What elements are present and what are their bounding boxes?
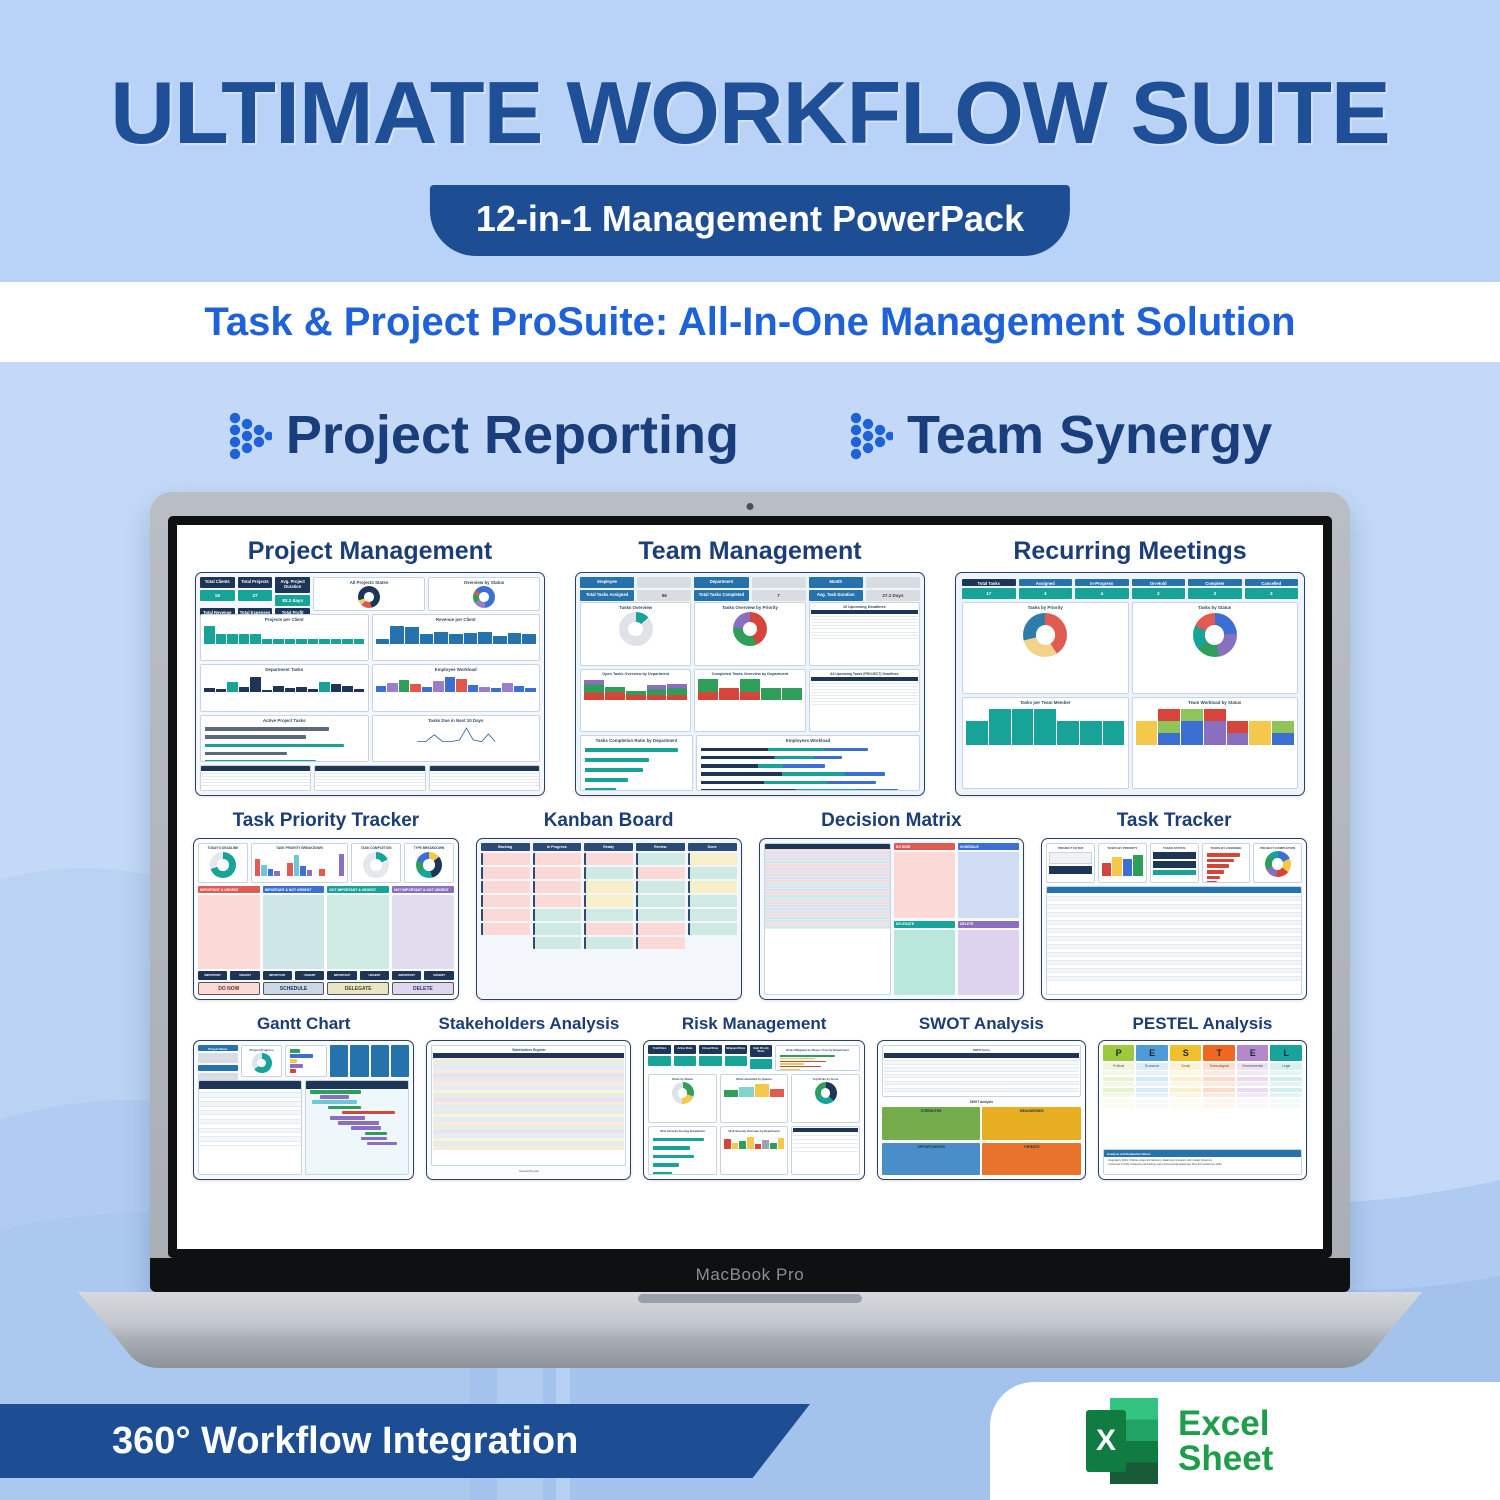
laptop-screen: Project Management Total Clients19 Total… <box>168 516 1332 1258</box>
analysis-notes-panel: Analysis and Evaluation Notes - Regulato… <box>1103 1149 1302 1175</box>
kanban-card[interactable] <box>636 937 685 949</box>
kpi-label: Mitigated Risks <box>725 1045 747 1054</box>
kanban-card[interactable] <box>584 853 633 865</box>
donut-chart <box>473 586 495 608</box>
dashboard-tile-swot-analysis[interactable]: SWOT Analysis SWOT Entry <box>877 1014 1086 1180</box>
panel-title: Overview by Status <box>429 578 539 585</box>
kanban-card[interactable] <box>533 909 582 921</box>
dashboard-gallery: Project Management Total Clients19 Total… <box>177 525 1323 1249</box>
kpi-label: Total Tasks Completed <box>694 590 748 601</box>
panel-title: PROJECT FILTER <box>1047 844 1094 850</box>
chart-panel: Tasks by Status <box>1132 602 1299 694</box>
kpi-value: 83.2 days <box>275 595 310 606</box>
excel-logo-letter: X <box>1096 1424 1116 1457</box>
toggle-label[interactable]: URGENT <box>295 971 324 980</box>
kpi-label: Total Tasks Assigned <box>580 590 634 601</box>
laptop-mockup: Project Management Total Clients19 Total… <box>150 492 1350 1292</box>
kpi-label: On-Hold <box>1132 579 1186 586</box>
chart-panel: Risks by Status <box>648 1074 716 1123</box>
donut-chart <box>1265 851 1291 877</box>
chart-panel: TASK PRIORITY BREAKDOWN <box>251 843 349 883</box>
notes-title: Analysis and Evaluation Notes <box>1104 1150 1301 1157</box>
dashboard-row-2: Task Priority Tracker TODAY'S DEADLINE <box>191 810 1309 1000</box>
kanban-card[interactable] <box>533 937 582 949</box>
dashboard-row-3: Gantt Chart Project Name <box>191 1014 1309 1180</box>
filter-value[interactable] <box>637 577 691 588</box>
dashboard-tile-task-tracker[interactable]: Task Tracker PROJECT FILTER <box>1041 810 1307 1000</box>
quadrant-delete: DELETE <box>958 921 1019 996</box>
kpi-value: 4 <box>1075 588 1129 599</box>
tile-title: Decision Matrix <box>759 810 1025 832</box>
pestel-column-economic: E Economic <box>1136 1045 1168 1146</box>
kanban-card[interactable] <box>636 923 685 935</box>
kanban-card[interactable] <box>584 881 633 893</box>
kanban-card[interactable] <box>584 937 633 949</box>
kanban-card[interactable] <box>688 909 737 921</box>
panel-title: Employees Workload <box>697 736 919 743</box>
kpi-label: Total Tasks <box>962 579 1016 586</box>
chart-panel: TASKS BY PRIORITY <box>1098 843 1147 883</box>
quadrant-header: DELEGATE <box>894 921 955 928</box>
kanban-card[interactable] <box>481 867 530 879</box>
kpi-value: 7 <box>752 590 806 601</box>
panel-title: SWOT Analysis <box>882 1100 1081 1104</box>
quadrant-do-now: DO NOW <box>894 843 955 918</box>
kanban-card[interactable] <box>584 923 633 935</box>
chart-panel: Tasks Completion Ratio by Department <box>580 735 693 791</box>
excel-logo-icon: X <box>1086 1398 1158 1484</box>
filter-label[interactable]: Employee <box>580 577 634 588</box>
tile-screenshot: P Political E Econ <box>1098 1040 1307 1180</box>
donut-chart <box>1023 613 1067 657</box>
chart-panel: Top Risks by Score <box>791 1074 859 1123</box>
column-header: Done <box>688 843 737 851</box>
kpi-value: 3 <box>1132 588 1186 599</box>
kanban-card[interactable] <box>481 909 530 921</box>
quadrant-do-now: IMPORTANT & URGENT IMPORTANTURGENT DO NO… <box>198 886 260 995</box>
panel-title: Tasks Due in Next 10 Days <box>373 716 540 723</box>
kanban-card[interactable] <box>636 895 685 907</box>
brand-name-line1: Excel <box>1178 1406 1273 1441</box>
panel-title: Tasks by Priority <box>963 603 1128 610</box>
quadrant-delete: NOT IMPORTANT & NOT URGENT IMPORTANTURGE… <box>392 886 454 995</box>
tile-title: Stakeholders Analysis <box>426 1014 631 1034</box>
kanban-card[interactable] <box>688 853 737 865</box>
brand-name-line2: Sheet <box>1178 1441 1273 1476</box>
pestel-column-political: P Political <box>1103 1045 1135 1146</box>
dot-triangle-icon <box>849 410 893 460</box>
filter-value[interactable] <box>866 577 920 588</box>
dashboard-tile-project-management[interactable]: Project Management Total Clients19 Total… <box>195 537 545 796</box>
tile-title: Risk Management <box>643 1014 864 1034</box>
chart-panel: TASKS STATUS <box>1150 843 1199 883</box>
pestel-letter: P <box>1103 1045 1135 1061</box>
column-header: Review <box>636 843 685 851</box>
dashboard-tile-task-priority-tracker[interactable]: Task Priority Tracker TODAY'S DEADLINE <box>193 810 459 1000</box>
risk-matrix <box>791 1126 859 1175</box>
dashboard-tile-risk-management[interactable]: Risk Management Total Risks Active Risks… <box>643 1014 864 1180</box>
dashboard-row-1: Project Management Total Clients19 Total… <box>191 537 1309 796</box>
pestel-letter: E <box>1136 1045 1168 1061</box>
tile-screenshot: Total Tasks17 Assigned4 In-Progress4 On-… <box>955 572 1305 796</box>
kpi-label: Cancelled <box>1245 579 1299 586</box>
kanban-card[interactable] <box>636 909 685 921</box>
quadrant-header: NOT IMPORTANT & URGENT <box>327 886 389 893</box>
pestel-letter: T <box>1203 1045 1235 1061</box>
kanban-card[interactable] <box>584 909 633 921</box>
quadrant-body <box>958 852 1019 918</box>
dashboard-tile-team-management[interactable]: Team Management Employee Total Tasks Ass… <box>575 537 925 796</box>
toggle-label[interactable]: IMPORTANT <box>392 971 421 980</box>
tile-title: Kanban Board <box>476 810 742 832</box>
panel-title: Project Name <box>198 1045 238 1051</box>
pestel-name: Social <box>1170 1063 1202 1070</box>
feature-badges: Project Reporting Team Synergy <box>0 382 1500 488</box>
feature-label: Project Reporting <box>286 404 739 466</box>
swot-quadrant-opportunities: OPPORTUNITIES <box>882 1143 981 1176</box>
panel-title: Tasks per Team Member <box>963 698 1128 705</box>
panel-title: Active Project Tasks <box>201 716 368 723</box>
tile-screenshot: DO NOW SCHEDULE <box>759 838 1025 1000</box>
dashboard-tile-pestel-analysis[interactable]: PESTEL Analysis P Political <box>1098 1014 1307 1180</box>
filter-panel[interactable]: PROJECT FILTER <box>1046 843 1095 883</box>
quadrant-body <box>392 895 454 969</box>
excel-brand-card: X Excel Sheet <box>990 1382 1500 1500</box>
panel-title: Tasks by Status <box>1133 603 1298 610</box>
toggle-label[interactable]: IMPORTANT <box>263 971 292 980</box>
panel-title: Projects per Client <box>201 615 368 622</box>
kanban-card[interactable] <box>636 853 685 865</box>
data-table: All Upcoming Tasks (PROJECT) Deadlines <box>809 669 920 733</box>
tile-screenshot: Stakeholders Register <box>426 1040 631 1180</box>
kpi-label: Closed Risks <box>699 1045 721 1054</box>
chart-panel: Team Workload by Status <box>1132 697 1299 789</box>
webcam-icon <box>747 503 754 510</box>
data-table: 10 Upcoming Deadlines <box>809 602 920 666</box>
quadrant-header: OPPORTUNITIES <box>884 1145 979 1149</box>
line-chart <box>373 723 540 745</box>
quadrant-body <box>263 895 325 969</box>
chart-panel: Revenue per Client <box>372 614 541 661</box>
action-button[interactable]: DELETE <box>392 982 454 995</box>
quadrant-header: STRENGTHS <box>884 1109 979 1113</box>
dashboard-tile-gantt-chart[interactable]: Gantt Chart Project Name <box>193 1014 414 1180</box>
quadrant-header: DO NOW <box>894 843 955 850</box>
tile-screenshot: Backlog In Progr <box>476 838 742 1000</box>
tile-screenshot: Total Risks Active Risks Closed Risks Mi… <box>643 1040 864 1180</box>
dashboard-tile-recurring-meetings[interactable]: Recurring Meetings Total Tasks17 Assigne… <box>955 537 1305 796</box>
data-table <box>429 765 540 791</box>
quadrant-body <box>958 930 1019 996</box>
kanban-card[interactable] <box>688 923 737 935</box>
chart-panel: TASK COMPLETION <box>351 843 401 883</box>
panel-title: Top Risks by Score <box>792 1075 858 1081</box>
donut-chart <box>672 1082 694 1104</box>
laptop-bezel-bottom: MacBook Pro <box>150 1258 1350 1292</box>
kanban-card[interactable] <box>688 895 737 907</box>
kanban-card[interactable] <box>688 881 737 893</box>
kanban-column-done: Done <box>688 843 737 995</box>
kpi-label: Total Risks <box>648 1045 670 1054</box>
pestel-column-social: S Social <box>1170 1045 1202 1146</box>
tile-title: Task Priority Tracker <box>193 810 459 832</box>
panel-title: Risks Mitigated by Phase / Cost by Depar… <box>776 1046 859 1052</box>
panel-title: TYPE BREAKDOWN <box>405 844 453 850</box>
pestel-name: Legal <box>1270 1063 1302 1070</box>
chart-panel: TASKS BY ASSIGNEE <box>1202 843 1251 883</box>
chart-panel: Active Project Tasks <box>200 715 369 762</box>
page-subtitle: Task & Project ProSuite: All-In-One Mana… <box>204 300 1295 345</box>
chart-panel: Department Tasks <box>200 664 369 711</box>
chart-panel: Employee Workload <box>372 664 541 711</box>
tile-screenshot: Project Name Project Progress <box>193 1040 414 1180</box>
kanban-card[interactable] <box>584 867 633 879</box>
swot-quadrant-threats: THREATS <box>982 1143 1081 1176</box>
kanban-card[interactable] <box>533 881 582 893</box>
tile-title: Project Management <box>195 537 545 566</box>
tile-title: Task Tracker <box>1041 810 1307 832</box>
tile-screenshot: Employee Total Tasks Assigned56 Departme… <box>575 572 925 796</box>
chart-panel: Tasks Overview by Priority <box>694 602 805 666</box>
action-button[interactable]: DO NOW <box>198 982 260 995</box>
panel-title: All Projects States <box>314 578 424 585</box>
quadrant-body <box>894 852 955 918</box>
kanban-card[interactable] <box>481 881 530 893</box>
table-footer-note: Interest/Impact <box>431 1169 626 1175</box>
pestel-column-technological: T Technological <box>1203 1045 1235 1146</box>
pestel-letter: S <box>1170 1045 1202 1061</box>
swot-quadrant-weaknesses: WEAKNESSES <box>982 1107 1081 1140</box>
pestel-column-legal: L Legal <box>1270 1045 1302 1146</box>
donut-chart <box>733 612 767 646</box>
hero-badge: 12-in-1 Management PowerPack <box>430 185 1070 256</box>
tile-title: Recurring Meetings <box>955 537 1305 566</box>
panel-title: Project Progress <box>242 1046 282 1052</box>
chart-panel: Risk Severity Scoring Breakdown <box>648 1126 716 1175</box>
kanban-card[interactable] <box>533 923 582 935</box>
chart-panel: Tasks Due in Next 10 Days <box>372 715 541 762</box>
laptop-model-label: MacBook Pro <box>696 1265 805 1285</box>
swot-quadrant-strengths: STRENGTHS <box>882 1107 981 1140</box>
panel-title: Completed Tasks Overview by Department <box>695 670 804 676</box>
chart-panel: Risk Severity Overview by Department <box>720 1126 788 1175</box>
kpi-value: 56 <box>637 590 691 601</box>
donut-chart <box>619 612 653 646</box>
kanban-column-backlog: Backlog <box>481 843 530 995</box>
quadrant-header: NOT IMPORTANT & NOT URGENT <box>392 886 454 893</box>
kpi-value: 27 <box>238 590 273 601</box>
dashboard-tile-kanban-board[interactable]: Kanban Board Backlog <box>476 810 742 1000</box>
action-button[interactable]: DELEGATE <box>327 982 389 995</box>
panel-title: Tasks Completion Ratio by Department <box>581 736 692 743</box>
chart-panel: Tasks by Priority <box>962 602 1129 694</box>
tile-title: Gantt Chart <box>193 1014 414 1034</box>
kpi-value: 27.2 Days <box>866 590 920 601</box>
feature-label: Team Synergy <box>907 404 1272 466</box>
pestel-name: Economic <box>1136 1063 1168 1070</box>
panel-title: Team Workload by Status <box>1133 698 1298 705</box>
chart-panel: Completed Tasks Overview by Department <box>694 669 805 733</box>
chart-panel: TYPE BREAKDOWN <box>404 843 454 883</box>
kpi-value: 3 <box>1245 588 1299 599</box>
laptop-lid: Project Management Total Clients19 Total… <box>150 492 1350 1292</box>
quadrant-schedule: IMPORTANT & NOT URGENT IMPORTANTURGENT S… <box>263 886 325 995</box>
donut-chart <box>363 852 389 878</box>
quadrant-delegate: NOT IMPORTANT & URGENT IMPORTANTURGENT D… <box>327 886 389 995</box>
data-table: Stakeholders Register <box>431 1045 626 1166</box>
kanban-column-ready: Ready <box>584 843 633 995</box>
pestel-letter: L <box>1270 1045 1302 1061</box>
quadrant-header: THREATS <box>984 1145 1079 1149</box>
kpi-label: Avg. Project Duration <box>275 577 310 593</box>
kpi-value: 17 <box>962 588 1016 599</box>
notes-line: - Consumer Trends: Advancing technology … <box>1107 1163 1298 1167</box>
data-table: SWOT Entry <box>882 1045 1081 1097</box>
column-header: In Progress <box>533 843 582 851</box>
data-table <box>1046 886 1302 995</box>
kpi-value: 4 <box>1019 588 1073 599</box>
data-table <box>198 1080 302 1175</box>
column-header: Ready <box>584 843 633 851</box>
panel-title: TASKS STATUS <box>1151 844 1198 850</box>
quadrant-schedule: SCHEDULE <box>958 843 1019 918</box>
toggle-label[interactable]: URGENT <box>360 971 389 980</box>
kanban-card[interactable] <box>533 895 582 907</box>
dot-triangle-icon <box>228 410 272 460</box>
chart-panel: Employees Workload <box>696 735 920 791</box>
chart-panel: Overview by Status <box>428 577 540 611</box>
tile-screenshot: Total Clients19 Total Projects27 Avg. Pr… <box>195 572 545 796</box>
kanban-card[interactable] <box>533 853 582 865</box>
toggle-label[interactable]: IMPORTANT <box>327 971 356 980</box>
kanban-card[interactable] <box>481 853 530 865</box>
chart-panel: Risks Identified by Quarter <box>720 1074 788 1123</box>
chart-panel <box>285 1045 327 1077</box>
toggle-label[interactable]: URGENT <box>230 971 259 980</box>
quadrant-delegate: DELEGATE <box>894 921 955 996</box>
panel-title: Tasks Overview <box>581 603 690 610</box>
filter-label[interactable]: Month <box>809 577 863 588</box>
kpi-value: 19 <box>200 590 235 601</box>
gantt-timeline <box>305 1080 409 1175</box>
filter-value[interactable] <box>752 577 806 588</box>
chart-panel: Tasks per Team Member <box>962 697 1129 789</box>
donut-chart <box>1193 613 1237 657</box>
quadrant-header: SCHEDULE <box>958 843 1019 850</box>
kpi-label: Avg. Task Duration <box>809 590 863 601</box>
hero-header: ULTIMATE WORKFLOW SUITE 12-in-1 Manageme… <box>0 0 1500 282</box>
panel-title: Revenue per Client <box>373 615 540 622</box>
action-button[interactable]: SCHEDULE <box>263 982 325 995</box>
toggle-label[interactable]: URGENT <box>424 971 453 980</box>
laptop-base <box>78 1292 1422 1368</box>
donut-chart <box>210 852 236 878</box>
kanban-card[interactable] <box>636 881 685 893</box>
column-header: Backlog <box>481 843 530 851</box>
tile-title: PESTEL Analysis <box>1098 1014 1307 1034</box>
chart-panel: Projects per Client <box>200 614 369 661</box>
panel-title: Risks by Status <box>649 1075 715 1081</box>
kpi-label: Total Clients <box>200 577 235 588</box>
footer-tagline: 360° Workflow Integration <box>0 1420 578 1463</box>
feature-team-synergy: Team Synergy <box>849 404 1272 466</box>
tile-screenshot: PROJECT FILTER TASKS BY PRIORITY <box>1041 838 1307 1000</box>
kpi-label: Complete <box>1188 579 1242 586</box>
kanban-card[interactable] <box>481 923 530 935</box>
tile-title: Team Management <box>575 537 925 566</box>
kanban-card[interactable] <box>533 867 582 879</box>
kanban-card[interactable] <box>688 867 737 879</box>
dashboard-tile-stakeholders-analysis[interactable]: Stakeholders Analysis Stakeholders Regis… <box>426 1014 631 1180</box>
kpi-label: Active Risks <box>674 1045 696 1054</box>
footer: 360° Workflow Integration X Excel Sheet <box>0 1382 1500 1500</box>
panel-title: TASK COMPLETION <box>352 844 400 850</box>
pestel-name: Environmental <box>1237 1063 1269 1070</box>
chart-panel: TODAY'S DEADLINE <box>198 843 248 883</box>
kpi-label: High Priority Risks <box>750 1045 772 1057</box>
pestel-column-environmental: E Environmental <box>1237 1045 1269 1146</box>
kpi-label: In-Progress <box>1075 579 1129 586</box>
pestel-name: Political <box>1103 1063 1135 1070</box>
tile-screenshot: SWOT Entry <box>877 1040 1086 1180</box>
quadrant-body <box>894 930 955 996</box>
page-title: ULTIMATE WORKFLOW SUITE <box>0 62 1500 164</box>
chart-panel: Project Progress <box>241 1045 283 1077</box>
kanban-card[interactable] <box>481 895 530 907</box>
quadrant-body <box>198 895 260 969</box>
panel-title: Risk Severity Overview by Department <box>721 1127 787 1133</box>
quadrant-header: IMPORTANT & NOT URGENT <box>263 886 325 893</box>
chart-panel: Risks Mitigated by Phase / Cost by Depar… <box>775 1045 860 1071</box>
panel-title: Department Tasks <box>201 665 368 672</box>
tile-screenshot: TODAY'S DEADLINE TASK PRIORITY BREAKDOWN <box>193 838 459 1000</box>
kpi-value: 3 <box>1188 588 1242 599</box>
pestel-name: Technological <box>1203 1063 1235 1070</box>
dashboard-tile-decision-matrix[interactable]: Decision Matrix <box>759 810 1025 1000</box>
pestel-letter: E <box>1237 1045 1269 1061</box>
pie-chart <box>416 852 442 878</box>
kpi-label: Assigned <box>1019 579 1073 586</box>
data-table <box>764 843 891 995</box>
kanban-card[interactable] <box>584 895 633 907</box>
quadrant-body <box>327 895 389 969</box>
data-table <box>200 765 311 791</box>
quadrant-header: DELETE <box>958 921 1019 928</box>
kpi-label: Total Projects <box>238 577 273 588</box>
data-table <box>314 765 425 791</box>
chart-panel: All Projects States <box>313 577 425 611</box>
footer-ribbon: 360° Workflow Integration <box>0 1404 810 1478</box>
toggle-label[interactable]: IMPORTANT <box>198 971 227 980</box>
kanban-column-in-progress: In Progress <box>533 843 582 995</box>
panel-title: TODAY'S DEADLINE <box>199 844 247 850</box>
tile-title: SWOT Analysis <box>877 1014 1086 1034</box>
donut-chart <box>358 586 380 608</box>
kanban-column-review: Review <box>636 843 685 995</box>
quadrant-header: WEAKNESSES <box>984 1109 1079 1113</box>
chart-panel: PROJECT COMPLETION <box>1253 843 1302 883</box>
feature-project-reporting: Project Reporting <box>228 404 739 466</box>
filter-label[interactable]: Department <box>694 577 748 588</box>
kanban-card[interactable] <box>636 867 685 879</box>
chart-panel: Tasks Overview <box>580 602 691 666</box>
quadrant-header: IMPORTANT & URGENT <box>198 886 260 893</box>
donut-chart <box>815 1082 837 1104</box>
donut-chart <box>252 1053 272 1073</box>
panel-title: Tasks Overview by Priority <box>695 603 804 610</box>
panel-title: PROJECT COMPLETION <box>1254 844 1301 850</box>
panel-title: Employee Workload <box>373 665 540 672</box>
